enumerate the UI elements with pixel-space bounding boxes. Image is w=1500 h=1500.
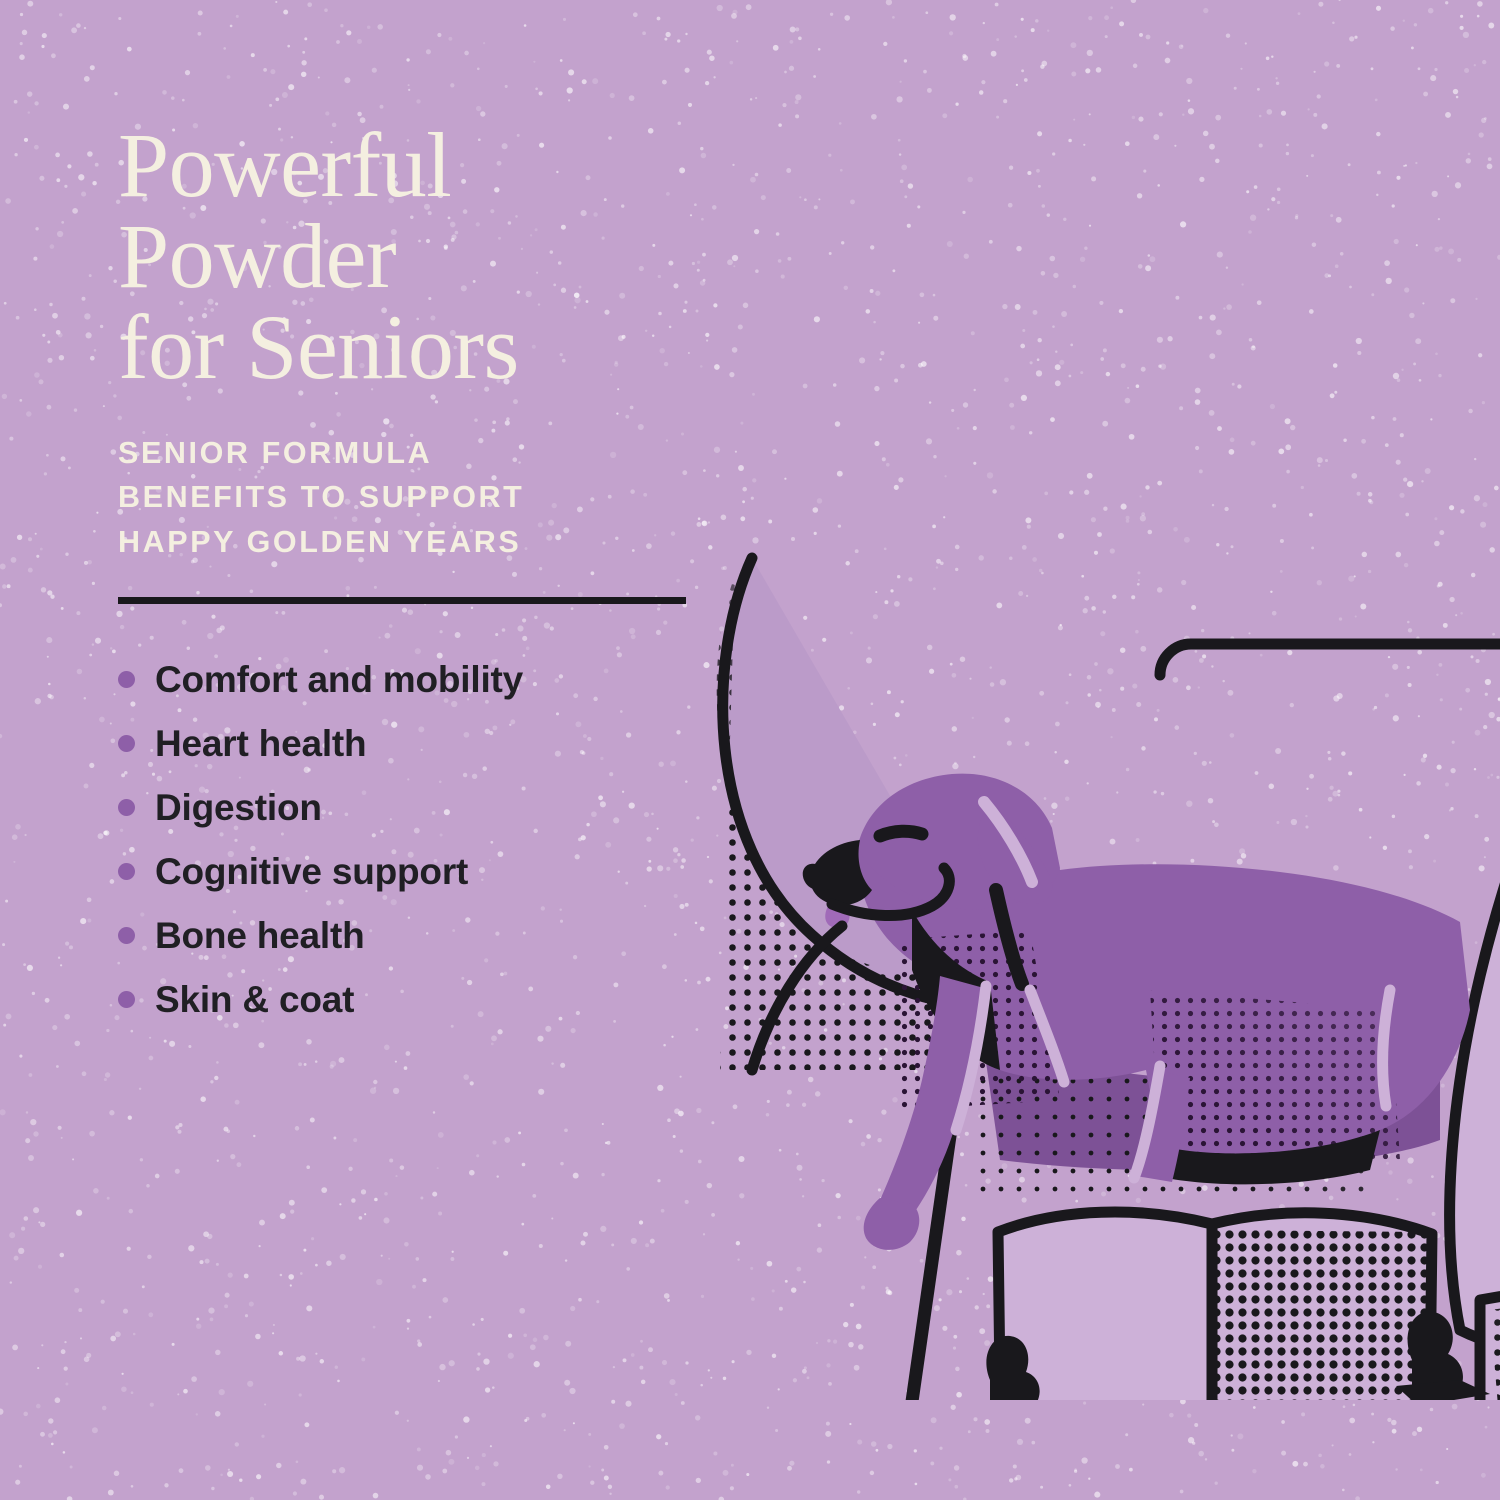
- list-item: Bone health: [118, 904, 718, 968]
- bullet-dot-icon: [118, 671, 135, 688]
- list-item: Heart health: [118, 712, 718, 776]
- benefits-list: Comfort and mobilityHeart healthDigestio…: [118, 648, 718, 1032]
- list-item: Comfort and mobility: [118, 648, 718, 712]
- list-item-label: Cognitive support: [155, 851, 468, 893]
- bullet-dot-icon: [118, 927, 135, 944]
- list-item: Digestion: [118, 776, 718, 840]
- dog-paw: [864, 1198, 920, 1250]
- subtitle: SENIOR FORMULA BENEFITS TO SUPPORT HAPPY…: [118, 431, 718, 564]
- list-item-label: Digestion: [155, 787, 322, 829]
- divider-rule: [118, 597, 686, 604]
- bullet-dot-icon: [118, 863, 135, 880]
- list-item: Cognitive support: [118, 840, 718, 904]
- list-item: Skin & coat: [118, 968, 718, 1032]
- bullet-dot-icon: [118, 799, 135, 816]
- list-item-label: Comfort and mobility: [155, 659, 523, 701]
- bullet-dot-icon: [118, 735, 135, 752]
- bullet-dot-icon: [118, 991, 135, 1008]
- list-item-label: Heart health: [155, 723, 366, 765]
- text-column: Powerful Powder for Seniors SENIOR FORMU…: [118, 120, 718, 1032]
- list-item-label: Skin & coat: [155, 979, 354, 1021]
- dog-eye: [880, 831, 922, 836]
- page-title: Powerful Powder for Seniors: [118, 120, 718, 393]
- list-item-label: Bone health: [155, 915, 365, 957]
